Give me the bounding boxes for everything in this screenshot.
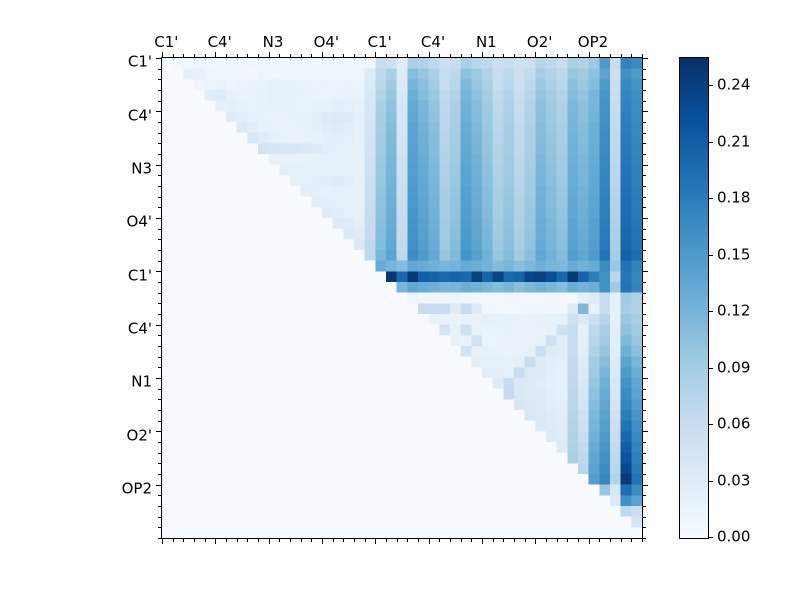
axis-tick [642,175,646,176]
axis-tick [642,335,646,336]
axis-tick [156,218,162,219]
axis-tick [471,54,472,58]
axis-tick [158,197,162,198]
axis-tick [610,54,611,58]
axis-tick [158,399,162,400]
axis-tick [158,133,162,134]
axis-tick [158,410,162,411]
axis-tick [156,165,162,166]
axis-tick [642,186,646,187]
axis-tick [557,538,558,542]
axis-tick [290,54,291,58]
axis-tick [158,293,162,294]
axis-tick [158,154,162,155]
axis-tick [226,538,227,542]
axis-tick [156,58,162,59]
axis-tick [514,54,515,58]
axis-tick [158,442,162,443]
axis-tick [642,229,646,230]
x-tick-label: N3 [263,35,284,50]
axis-tick [642,378,648,379]
axis-tick [642,495,646,496]
colorbar-tick-label: 0.00 [717,530,750,545]
axis-tick [158,517,162,518]
axis-tick [642,527,646,528]
axis-tick [156,111,162,112]
axis-tick [621,54,622,58]
axis-tick [642,218,648,219]
axis-tick [365,54,366,58]
axis-tick [642,485,648,486]
axis-tick [642,517,646,518]
colorbar-gradient [680,58,708,538]
colorbar-tick-label: 0.12 [717,304,750,319]
axis-tick [205,54,206,58]
axis-tick [226,54,227,58]
axis-tick [642,314,646,315]
colorbar-tick-label: 0.24 [717,78,750,93]
axis-tick [642,58,648,59]
axis-tick [158,527,162,528]
axis-tick [311,54,312,58]
axis-tick [514,538,515,542]
axis-tick [301,538,302,542]
axis-tick [461,538,462,542]
colorbar-tick [708,85,713,86]
axis-tick [258,538,259,542]
axis-tick [158,79,162,80]
axis-tick [205,538,206,542]
x-tick-label: O4' [314,35,339,50]
axis-tick [525,538,526,542]
axis-tick [589,52,590,58]
axis-tick [279,54,280,58]
axis-tick [610,538,611,542]
axis-tick [557,54,558,58]
axis-tick [642,154,646,155]
axis-tick [471,538,472,542]
y-tick-label: N3 [131,162,152,177]
x-tick-label: C4' [208,35,232,50]
x-tick-label: O2' [527,35,552,50]
x-tick-label: N1 [476,35,497,50]
axis-tick [418,54,419,58]
axis-tick [642,410,646,411]
axis-tick [631,54,632,58]
axis-tick [158,303,162,304]
axis-tick [158,314,162,315]
axis-tick [158,101,162,102]
axis-tick [301,54,302,58]
axis-tick [642,90,646,91]
axis-tick [429,52,430,58]
axis-tick [642,474,646,475]
axis-tick [642,69,646,70]
y-tick-label: O4' [127,215,152,230]
axis-tick [183,538,184,542]
x-tick-label: OP2 [578,35,608,50]
axis-tick [567,538,568,542]
axis-tick [642,453,646,454]
axis-tick [269,52,270,58]
axis-tick [397,538,398,542]
colorbar-tick [708,255,713,256]
axis-tick [158,175,162,176]
colorbar-tick [708,537,713,538]
axis-tick [158,250,162,251]
colorbar-tick-label: 0.21 [717,134,750,149]
axis-tick [642,325,648,326]
axis-tick [535,52,536,58]
axis-tick [237,538,238,542]
axis-tick [158,239,162,240]
axis-tick [322,52,323,58]
axis-tick [215,52,216,58]
axis-tick [397,54,398,58]
axis-tick [258,54,259,58]
axis-tick [631,538,632,542]
x-tick-label: C4' [421,35,445,50]
axis-tick [642,538,646,539]
axis-tick [642,271,648,272]
y-tick-label: OP2 [122,482,152,497]
axis-tick [503,538,504,542]
axis-tick [642,442,646,443]
axis-tick [158,346,162,347]
axis-tick [450,54,451,58]
y-tick-label: N1 [131,375,152,390]
axis-tick [173,54,174,58]
axis-tick [194,538,195,542]
axis-tick [642,293,646,294]
axis-tick [290,538,291,542]
axis-tick [642,399,646,400]
axis-tick [354,54,355,58]
heatmap-image [162,58,642,538]
axis-tick [642,389,646,390]
axis-tick [215,538,216,544]
colorbar-tick-label: 0.06 [717,417,750,432]
colorbar-tick [708,142,713,143]
axis-tick [194,54,195,58]
axis-tick [237,54,238,58]
axis-tick [461,54,462,58]
axis-tick [156,325,162,326]
axis-tick [386,538,387,542]
axis-tick [546,54,547,58]
axis-tick [567,54,568,58]
axis-tick [354,538,355,542]
axis-tick [158,474,162,475]
axis-tick [642,367,646,368]
axis-tick [386,54,387,58]
axis-tick [158,282,162,283]
y-tick-label: C1' [128,55,152,70]
axis-tick [589,538,590,544]
axis-tick [642,133,646,134]
colorbar-axes[interactable] [679,57,709,539]
axis-tick [642,303,646,304]
axis-tick [642,79,646,80]
axis-tick [279,538,280,542]
axis-tick [375,52,376,58]
axis-tick [158,367,162,368]
axis-tick [158,90,162,91]
axis-tick [173,538,174,542]
colorbar-tick [708,311,713,312]
axis-tick [525,54,526,58]
colorbar-tick [708,424,713,425]
axis-tick [158,506,162,507]
axis-tick [156,431,162,432]
y-tick-label: O2' [127,428,152,443]
axis-tick [642,122,646,123]
axis-tick [439,538,440,542]
y-tick-label: C4' [128,108,152,123]
axis-tick [247,538,248,542]
axis-tick [158,421,162,422]
colorbar-tick [708,481,713,482]
axis-tick [158,69,162,70]
axis-tick [482,52,483,58]
axis-tick [322,538,323,544]
axis-tick [642,346,646,347]
colorbar-tick-label: 0.09 [717,360,750,375]
axis-tick [156,378,162,379]
axis-tick [642,101,646,102]
axis-tick [158,186,162,187]
axis-tick [375,538,376,544]
axis-tick [578,54,579,58]
x-tick-label: C1' [154,35,178,50]
axis-tick [158,207,162,208]
axis-tick [333,538,334,542]
axis-tick [642,431,648,432]
axis-tick [621,538,622,542]
axis-tick [503,54,504,58]
colorbar-tick-label: 0.18 [717,191,750,206]
axis-tick [158,357,162,358]
axis-tick [158,463,162,464]
y-tick-label: C4' [128,322,152,337]
axis-tick [158,261,162,262]
figure-canvas: C1'C4'N3O4'C1'C4'N1O2'OP2 C1'C4'N3O4'C1'… [0,0,800,600]
axis-tick [156,485,162,486]
axis-tick [546,538,547,542]
y-tick-label: C1' [128,268,152,283]
colorbar-tick [708,368,713,369]
axis-tick [158,389,162,390]
colorbar-tick-label: 0.03 [717,473,750,488]
axis-tick [158,122,162,123]
axis-tick [493,54,494,58]
axis-tick [407,54,408,58]
axis-tick [429,538,430,544]
colorbar-tick-label: 0.15 [717,247,750,262]
axis-tick [450,538,451,542]
axis-tick [642,506,646,507]
axis-tick [333,54,334,58]
axis-tick [439,54,440,58]
axis-tick [158,538,162,539]
axis-tick [642,282,646,283]
axis-tick [642,239,646,240]
axis-tick [269,538,270,544]
axis-tick [158,453,162,454]
axis-tick [642,463,646,464]
axis-tick [535,538,536,544]
axis-tick [418,538,419,542]
axis-tick [493,538,494,542]
colorbar-tick [708,198,713,199]
axis-tick [642,197,646,198]
axis-tick [642,261,646,262]
axis-tick [343,54,344,58]
axis-tick [183,54,184,58]
axis-tick [158,335,162,336]
axis-tick [158,495,162,496]
axis-tick [343,538,344,542]
axis-tick [642,357,646,358]
axis-tick [599,538,600,542]
axis-tick [365,538,366,542]
axis-tick [642,207,646,208]
axis-tick [156,271,162,272]
axis-tick [642,143,646,144]
axis-tick [642,421,646,422]
axis-tick [158,229,162,230]
axis-tick [578,538,579,542]
axis-tick [407,538,408,542]
axis-tick [247,54,248,58]
axis-tick [482,538,483,544]
axis-tick [599,54,600,58]
heatmap-axes[interactable] [161,57,643,539]
axis-tick [162,52,163,58]
axis-tick [642,111,648,112]
axis-tick [311,538,312,542]
axis-tick [642,165,648,166]
x-tick-label: C1' [368,35,392,50]
axis-tick [158,143,162,144]
axis-tick [162,538,163,544]
axis-tick [642,250,646,251]
